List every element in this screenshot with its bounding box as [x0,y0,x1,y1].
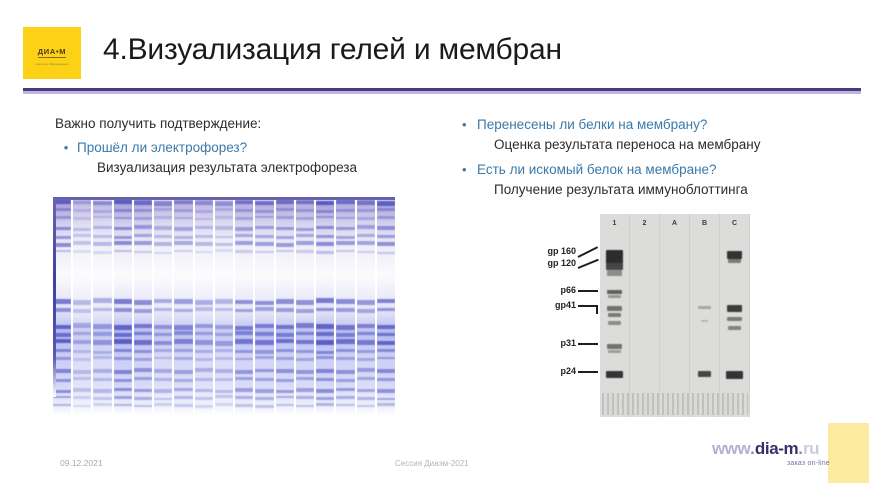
gel-band [316,369,334,373]
gel-photo [53,197,395,415]
gel-band [174,339,192,344]
blot-band [606,262,623,270]
gel-band [235,250,253,252]
gel-band [276,236,294,239]
gel-band [357,200,375,204]
gel-band [336,299,354,304]
blot-band [607,306,622,311]
gel-band [93,242,111,246]
gel-band [316,324,334,328]
blot-lane-b: B [690,214,720,417]
gel-band [73,350,91,353]
gel-band [134,251,152,253]
blot-band-label: gp 120 [547,258,576,268]
gel-band [195,235,213,238]
blot-band [608,295,621,298]
gel-band [174,349,192,352]
gel-band [316,378,334,381]
gel-band [114,308,132,311]
gel-band [154,308,172,311]
gel-band [377,398,395,401]
blot-band [608,313,622,317]
gel-lane-background [255,197,273,415]
gel-band [357,377,375,380]
gel-band [174,396,192,399]
gel-band [114,333,132,336]
gel-band [316,235,334,238]
page-title: 4.Визуализация гелей и мембран [103,33,562,67]
blot-band-label: p24 [560,366,576,376]
blot-band-label: gp 160 [547,246,576,256]
gel-band [73,332,91,335]
gel-band [73,300,91,305]
gel-band [276,250,294,252]
gel-band [215,390,233,393]
gel-band [377,389,395,392]
gel-band [255,369,273,373]
gel-band [114,199,132,203]
gel-band [235,241,253,245]
gel-band [93,332,111,335]
gel-band [377,341,395,346]
gel-band [73,377,91,380]
gel-band [336,227,354,230]
blot-band-label: gp41 [555,300,576,310]
gel-band [93,298,111,303]
gel-band [174,227,192,230]
gel-band [276,379,294,382]
gel-lane [195,197,213,415]
blot-band [701,320,707,322]
gel-band [73,200,91,204]
gel-band [73,370,91,374]
gel-band [276,396,294,399]
gel-band [154,201,172,205]
gel-band [296,241,314,245]
blot-band [698,371,712,377]
gel-band [134,324,152,328]
gel-band [296,350,314,353]
gel-band [276,390,294,393]
gel-band [215,341,233,346]
gel-band [134,309,152,312]
gel-band [357,332,375,335]
gel-band [93,210,111,213]
gel-band [114,325,132,329]
gel-band [73,358,91,361]
right-bullet-item-2: • Есть ли искомый белок на мембране? [462,160,862,180]
gel-band [134,225,152,228]
gel-band [134,405,152,408]
gel-band [377,333,395,336]
gel-band [255,350,273,353]
gel-band [174,388,192,391]
blot-band [607,270,622,276]
diam-logo-text: ДИА•М [38,48,67,58]
gel-band [154,325,172,329]
gel-band [93,216,111,219]
gel-band [134,368,152,372]
gel-band [174,241,192,245]
gel-band [377,235,395,238]
gel-band [114,396,132,399]
gel-band [93,251,111,253]
gel-band [255,251,273,253]
gel-band [255,324,273,328]
gel-band [235,200,253,204]
gel-band [154,226,172,229]
gel-band [235,358,253,361]
gel-band [195,251,213,253]
gel-band [93,324,111,328]
gel-band [276,357,294,360]
gel-band [296,200,314,204]
gel-band [316,226,334,229]
gel-left-edge [53,199,56,397]
gel-band [174,209,192,212]
gel-band [154,389,172,392]
gel-band [114,379,132,382]
gel-band [235,209,253,212]
gel-band [154,235,172,238]
brand-tagline: заказ on-line [787,460,830,467]
blot-lane-2: 2 [630,214,660,417]
bullet-dot-icon: • [55,138,77,158]
gel-band [235,370,253,374]
gel-band [93,308,111,311]
gel-band [296,309,314,312]
bullet-dot-icon: • [462,115,477,135]
gel-lane [114,197,132,415]
gel-band [215,208,233,211]
gel-band [235,300,253,305]
blot-band [606,250,623,263]
gel-band [255,340,273,345]
gel-band [357,217,375,220]
gel-band [296,300,314,305]
blot-lane-label: 2 [630,220,659,227]
gel-band [357,358,375,361]
gel-band [316,351,334,354]
gel-band [255,201,273,205]
gel-band [276,243,294,247]
gel-lane [174,197,192,415]
gel-band [93,340,111,345]
gel-band [235,227,253,230]
gel-band [296,323,314,327]
gel-band [276,325,294,329]
gel-band [154,378,172,381]
gel-band [296,250,314,252]
gel-band [377,403,395,406]
gel-band [154,357,172,360]
gel-band [336,404,354,407]
gel-band [154,299,172,304]
gel-lane [235,197,253,415]
blot-band [728,326,742,330]
blot-lane-a: A [660,214,690,417]
blot-band [726,371,743,379]
gel-band [215,308,233,311]
gel-band [336,349,354,352]
gel-band [134,340,152,345]
gel-band [296,370,314,374]
gel-band [336,236,354,239]
gel-band [336,333,354,336]
gel-band [316,332,334,335]
gel-band [377,242,395,246]
gel-band [316,251,334,253]
gel-band [296,228,314,231]
gel-band [255,301,273,306]
gel-band [357,309,375,312]
blot-band [606,371,622,378]
gel-band [93,389,111,392]
gel-lane-background [154,197,172,415]
footer-date: 09.12.2021 [60,458,103,468]
gel-lane [377,197,395,415]
gel-band [235,326,253,330]
gel-band [195,332,213,335]
right-bullet-question-2: Есть ли искомый белок на мембране? [477,160,717,180]
gel-band [357,234,375,237]
gel-band [154,398,172,401]
gel-band [336,199,354,203]
gel-band [73,396,91,399]
gel-band [357,209,375,212]
brand-tld: ru [803,439,819,458]
footer-session: Сессия Диаэм-2021 [395,459,469,468]
gel-band [174,309,192,312]
gel-band [73,209,91,212]
gel-band [93,356,111,359]
blot-lane-c: C [720,214,750,417]
gel-band [316,403,334,406]
gel-band [114,209,132,212]
gel-band [154,242,172,246]
gel-band [73,234,91,237]
gel-band [255,332,273,335]
gel-band [357,251,375,253]
gel-band [73,340,91,345]
blot-band-label: p66 [560,285,576,295]
gel-band [336,250,354,252]
gel-band [357,350,375,353]
gel-band [316,340,334,345]
gel-band [336,388,354,391]
gel-band [73,323,91,327]
gel-band [215,236,233,239]
gel-band [195,218,213,221]
gel-band [174,404,192,407]
blot-label-leader-line [578,290,598,292]
gel-band [235,339,253,344]
gel-band [357,389,375,392]
gel-band [255,307,273,310]
gel-band [296,234,314,237]
right-bullet-answer-1: Оценка результата переноса на мембрану [494,135,862,155]
gel-band [276,216,294,219]
gel-band [73,250,91,252]
gel-band [195,350,213,353]
gel-band [134,241,152,245]
gel-band [215,226,233,229]
gel-band [215,357,233,360]
gel-band [377,349,395,352]
gel-band [154,333,172,336]
gel-band [215,395,233,398]
gel-band [255,397,273,400]
gel-band [336,209,354,212]
gel-band [276,349,294,352]
gel-band [195,405,213,408]
gel-band [235,388,253,391]
slide-canvas: ДИА•М реагенты оборудование 4.Визуализац… [0,0,869,483]
gel-band [276,308,294,311]
gel-band [255,216,273,219]
gel-band [377,369,395,373]
gel-lane [276,197,294,415]
gel-band [93,201,111,205]
gel-band [195,389,213,392]
gel-band [235,377,253,380]
blot-label-leader-line [578,305,598,307]
gel-band [215,299,233,304]
gel-lane [336,197,354,415]
gel-band [93,403,111,406]
gel-lane [215,197,233,415]
gel-band [174,370,192,374]
brand-name: dia-m [755,439,798,458]
gel-band [174,331,192,334]
gel-band [93,378,111,381]
blot-band [608,350,621,353]
gel-band [134,397,152,400]
gel-lane [154,197,172,415]
gel-band [235,217,253,220]
blot-band [698,306,710,309]
gel-band [53,404,71,407]
gel-band [154,369,172,373]
gel-band [377,216,395,219]
gel-band [377,208,395,211]
gel-band [174,250,192,252]
gel-lane-background [93,197,111,415]
right-text-column: • Перенесены ли белки на мембрану? Оценк… [462,111,862,200]
left-bullet-answer: Визуализация результата электрофореза [97,158,455,178]
gel-band [154,208,172,211]
gel-band [377,226,395,229]
gel-band [195,200,213,204]
gel-band [336,396,354,399]
gel-band [316,356,334,359]
blot-label-leader-line [578,246,599,258]
blot-label-leader-line [578,371,598,373]
gel-band [93,369,111,373]
gel-band [195,358,213,361]
gel-band [114,357,132,360]
left-bullet-item: • Прошёл ли электрофорез? [55,138,455,158]
gel-image-area [53,197,395,415]
blot-label-leader-hook [596,305,598,314]
gel-band [316,397,334,400]
gel-band [215,403,233,406]
gel-band [134,234,152,237]
yellow-accent-block [828,423,869,483]
gel-lane [296,197,314,415]
gel-band [316,210,334,213]
gel-band [174,236,192,239]
blot-image-area: 12ABC [600,214,750,417]
gel-band [377,308,395,311]
blot-band [608,321,621,325]
gel-band [114,217,132,220]
gel-band [336,217,354,220]
gel-band [174,357,192,360]
gel-lane-background [377,197,395,415]
gel-band [134,200,152,204]
gel-band [215,243,233,247]
gel-band [255,226,273,229]
dia-m-url-logo[interactable]: www.dia-m.ru [712,440,819,458]
gel-band [195,210,213,213]
gel-band [276,404,294,407]
gel-band [377,201,395,205]
title-divider-shadow [23,91,861,94]
gel-band [73,241,91,245]
gel-band [235,234,253,237]
gel-band [195,368,213,372]
gel-lane [357,197,375,415]
gel-band [134,332,152,335]
gel-band [357,324,375,328]
blot-lane-label: A [660,220,689,227]
bullet-dot-icon: • [462,160,477,180]
gel-lane-background [316,197,334,415]
gel-band [73,388,91,391]
gel-band [134,350,152,353]
gel-band [114,241,132,245]
gel-band [235,404,253,407]
gel-band [114,388,132,391]
gel-band [235,331,253,334]
gel-band [114,404,132,407]
gel-band [195,378,213,381]
gel-band [235,350,253,353]
gel-band [73,309,91,312]
gel-band [336,241,354,245]
gel-band [174,217,192,220]
right-bullet-answer-2: Получение результата иммуноблоттинга [494,180,862,200]
gel-band [377,252,395,254]
gel-band [316,216,334,219]
blot-lane-label: B [690,220,719,227]
gel-band [255,210,273,213]
gel-band [255,405,273,408]
diam-logo-subtext: реагенты оборудование [30,63,74,66]
gel-band [134,300,152,305]
gel-band [73,228,91,231]
gel-band [215,325,233,329]
gel-band [296,217,314,220]
gel-band [215,349,233,352]
gel-band [215,333,233,336]
gel-band [215,378,233,381]
gel-lane [134,197,152,415]
gel-lane-background [134,197,152,415]
gel-band [336,357,354,360]
gel-band [174,299,192,304]
